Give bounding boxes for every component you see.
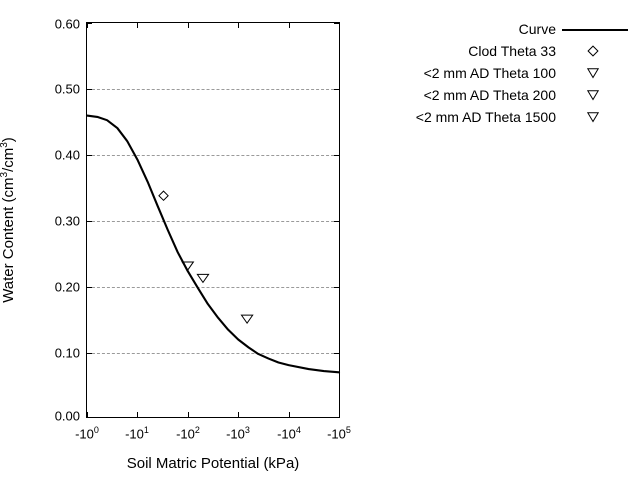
legend-item-ad-theta-200[interactable]: <2 mm AD Theta 200 [346, 84, 630, 106]
curve-series-line [87, 116, 339, 373]
x-tick-label-base: -10 [327, 426, 346, 441]
x-tick-label: -102 [176, 417, 200, 441]
legend-label: Clod Theta 33 [468, 43, 556, 59]
triangle-down-open-icon [587, 90, 599, 101]
triangle-down-open-icon [587, 68, 599, 79]
x-tick-label-exp: 4 [296, 425, 301, 435]
triangle-down-open-icon [587, 112, 599, 123]
diamond-open-icon [588, 46, 599, 57]
chart-canvas: Water Content (cm3/cm3) Soil Matric Pote… [0, 0, 640, 480]
line-swatch [562, 29, 628, 31]
legend-key-triangle-1500 [556, 106, 630, 128]
x-tick-label-base: -10 [176, 426, 195, 441]
data-point [241, 315, 252, 323]
x-tick-label-exp: 3 [245, 425, 250, 435]
legend-item-ad-theta-100[interactable]: <2 mm AD Theta 100 [346, 62, 630, 84]
y-axis-title-mid: /cm [0, 148, 17, 172]
x-tick-label: -105 [327, 417, 351, 441]
y-tick-label: 0.30 [55, 214, 87, 229]
x-tick-label: -100 [75, 417, 99, 441]
x-tick-label-exp: 5 [346, 425, 351, 435]
y-axis-title-sup1: 3 [0, 172, 10, 178]
y-axis-title-pre: Water Content (cm [0, 177, 17, 302]
x-tick-label-exp: 1 [144, 425, 149, 435]
legend-label: <2 mm AD Theta 1500 [416, 109, 556, 125]
legend-label: <2 mm AD Theta 200 [424, 87, 556, 103]
legend-item-curve[interactable]: Curve [346, 18, 630, 40]
x-tick-label-base: -10 [125, 426, 144, 441]
x-tick-label: -101 [125, 417, 149, 441]
legend-label: <2 mm AD Theta 100 [424, 65, 556, 81]
y-tick-label: 0.50 [55, 82, 87, 97]
legend-key-line [556, 18, 630, 40]
legend-key-triangle-100 [556, 62, 630, 84]
legend-label: Curve [519, 21, 556, 37]
legend-key-diamond [556, 40, 630, 62]
legend-item-ad-theta-1500[interactable]: <2 mm AD Theta 1500 [346, 106, 630, 128]
x-axis-title: Soil Matric Potential (kPa) [127, 455, 300, 472]
x-tick-label-exp: 2 [195, 425, 200, 435]
x-tick-label-base: -10 [75, 426, 94, 441]
x-tick-label-base: -10 [277, 426, 296, 441]
x-tick-label-exp: 0 [94, 425, 99, 435]
legend-item-clod-theta-33[interactable]: Clod Theta 33 [346, 40, 630, 62]
data-layer [87, 23, 339, 417]
x-tick-label: -103 [226, 417, 250, 441]
y-tick-label: 0.10 [55, 346, 87, 361]
data-point [159, 191, 168, 200]
plot-area: 0.60 0.50 0.40 0.30 0.20 0.10 0.00 -100 … [86, 22, 340, 418]
y-axis-title: Water Content (cm3/cm3) [0, 137, 17, 303]
data-points-layer [159, 191, 253, 323]
legend: Curve Clod Theta 33 <2 mm AD Theta 100 < [346, 18, 630, 128]
x-tick-label: -104 [277, 417, 301, 441]
legend-key-triangle-200 [556, 84, 630, 106]
x-tick-label-base: -10 [226, 426, 245, 441]
y-axis-title-post: ) [0, 137, 17, 142]
data-point [197, 274, 208, 282]
y-axis-title-sup2: 3 [0, 142, 10, 148]
x-tick-mark-top [339, 23, 340, 28]
y-tick-label: 0.40 [55, 148, 87, 163]
y-tick-label: 0.20 [55, 280, 87, 295]
y-tick-label: 0.60 [55, 17, 87, 32]
